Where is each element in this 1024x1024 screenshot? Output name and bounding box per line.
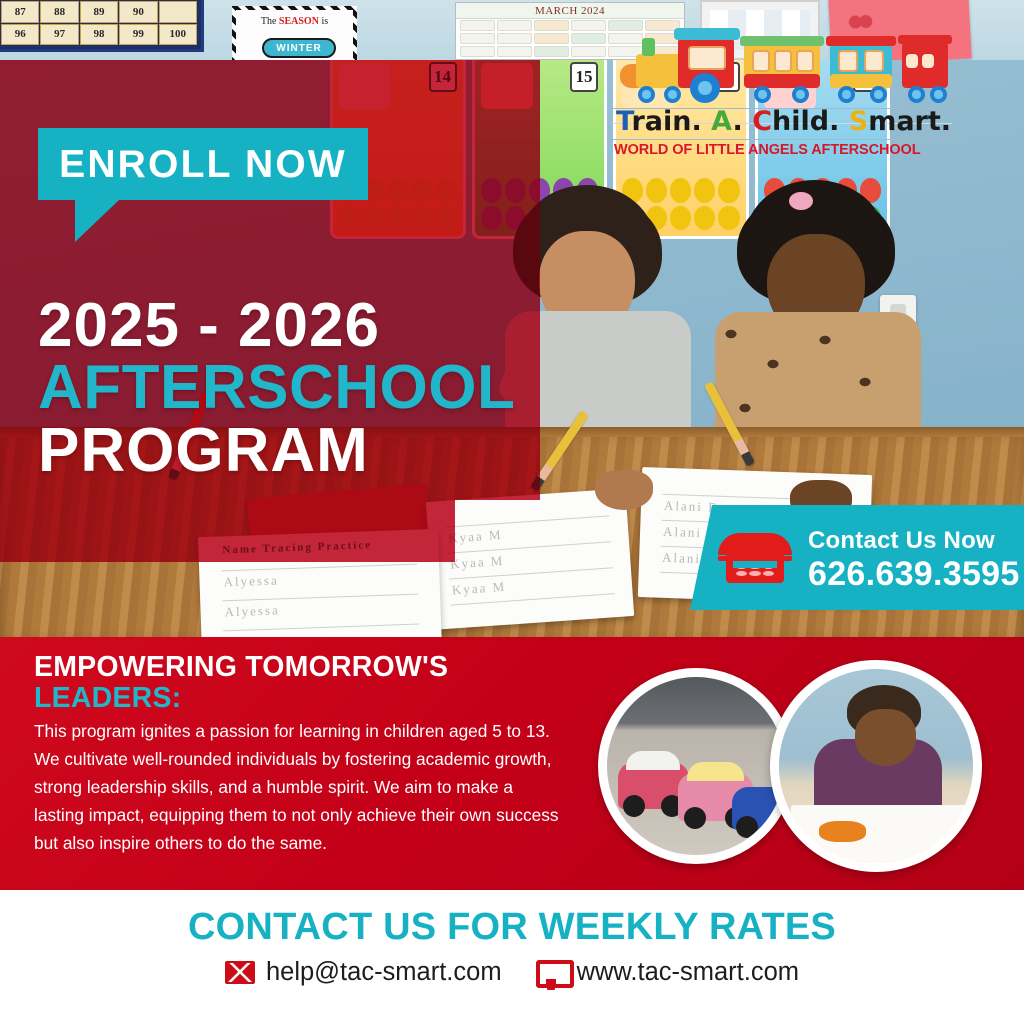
headline-years: 2025 - 2026	[38, 296, 515, 356]
season-value: WINTER	[262, 38, 336, 58]
envelope-icon	[225, 961, 255, 984]
info-body-text: This program ignites a passion for learn…	[34, 717, 564, 857]
train-icon	[618, 24, 948, 102]
footer-email[interactable]: help@tac-smart.com	[225, 958, 502, 987]
poster-number: 15	[570, 62, 598, 92]
hundreds-chart: 8788899096979899100	[0, 0, 204, 52]
season-sign: The SEASON is WINTER	[232, 6, 357, 60]
hundreds-chart-cell: 98	[80, 24, 118, 46]
contact-us-box[interactable]: Contact Us Now 626.639.3595	[690, 505, 1024, 610]
monitor-icon	[536, 960, 566, 986]
phone-number[interactable]: 626.639.3595	[808, 555, 1020, 594]
info-heading-line1: EMPOWERING TOMORROW'S	[34, 651, 448, 684]
enroll-now-badge[interactable]: ENROLL NOW	[38, 128, 368, 200]
season-word: SEASON	[279, 16, 319, 27]
headline-afterschool: AFTERSCHOOL	[38, 356, 515, 419]
child-coloring-photo	[770, 660, 982, 872]
flyer-canvas: 8788899096979899100 The SEASON is WINTER…	[0, 0, 1024, 1024]
footer-website[interactable]: www.tac-smart.com	[536, 958, 799, 987]
worksheet-name: Alyessa	[223, 572, 279, 590]
footer-website-text: www.tac-smart.com	[577, 958, 799, 987]
contact-label: Contact Us Now	[808, 527, 995, 555]
red-duotone-overlay-lower-tint	[0, 500, 455, 562]
footer-heading: CONTACT US FOR WEEKLY RATES	[0, 906, 1024, 949]
telephone-icon	[718, 531, 792, 583]
hundreds-chart-cell: 87	[1, 1, 39, 23]
page-title: 2025 - 2026 AFTERSCHOOL PROGRAM	[38, 296, 515, 482]
headline-program: PROGRAM	[38, 419, 515, 482]
hundreds-chart-cell	[159, 1, 197, 23]
brand-logo[interactable]: Train. A. Child. Smart. WORLD OF LITTLE …	[612, 24, 952, 170]
footer-email-text: help@tac-smart.com	[266, 958, 502, 987]
calendar-title: MARCH 2024	[456, 3, 684, 19]
toy-cars-photo	[598, 668, 794, 864]
hundreds-chart-cell: 100	[159, 24, 197, 46]
season-prefix: The	[261, 16, 279, 27]
speech-bubble-tail-icon	[75, 200, 119, 242]
hundreds-chart-cell: 89	[80, 1, 118, 23]
worksheet-name: Alyessa	[224, 602, 280, 620]
logo-name: Train. A. Child. Smart.	[616, 106, 951, 137]
enroll-now-label: ENROLL NOW	[59, 145, 347, 184]
worksheet: Kyaa MKyaa M Kyaa M	[426, 488, 634, 630]
hundreds-chart-cell: 88	[40, 1, 78, 23]
footer: CONTACT US FOR WEEKLY RATES help@tac-sma…	[0, 890, 1024, 1024]
info-heading-line2: LEADERS:	[34, 682, 181, 715]
season-suffix: is	[319, 16, 328, 27]
hundreds-chart-cell: 96	[1, 24, 39, 46]
season-sign-text: The SEASON is	[236, 16, 353, 27]
hundreds-chart-cell: 97	[40, 24, 78, 46]
hundreds-chart-cell: 99	[119, 24, 157, 46]
hand	[595, 470, 653, 510]
logo-name-block: Train. A. Child. Smart.	[612, 106, 952, 140]
hundreds-chart-cell: 90	[119, 1, 157, 23]
logo-subtitle: WORLD OF LITTLE ANGELS AFTERSCHOOL	[614, 142, 954, 158]
